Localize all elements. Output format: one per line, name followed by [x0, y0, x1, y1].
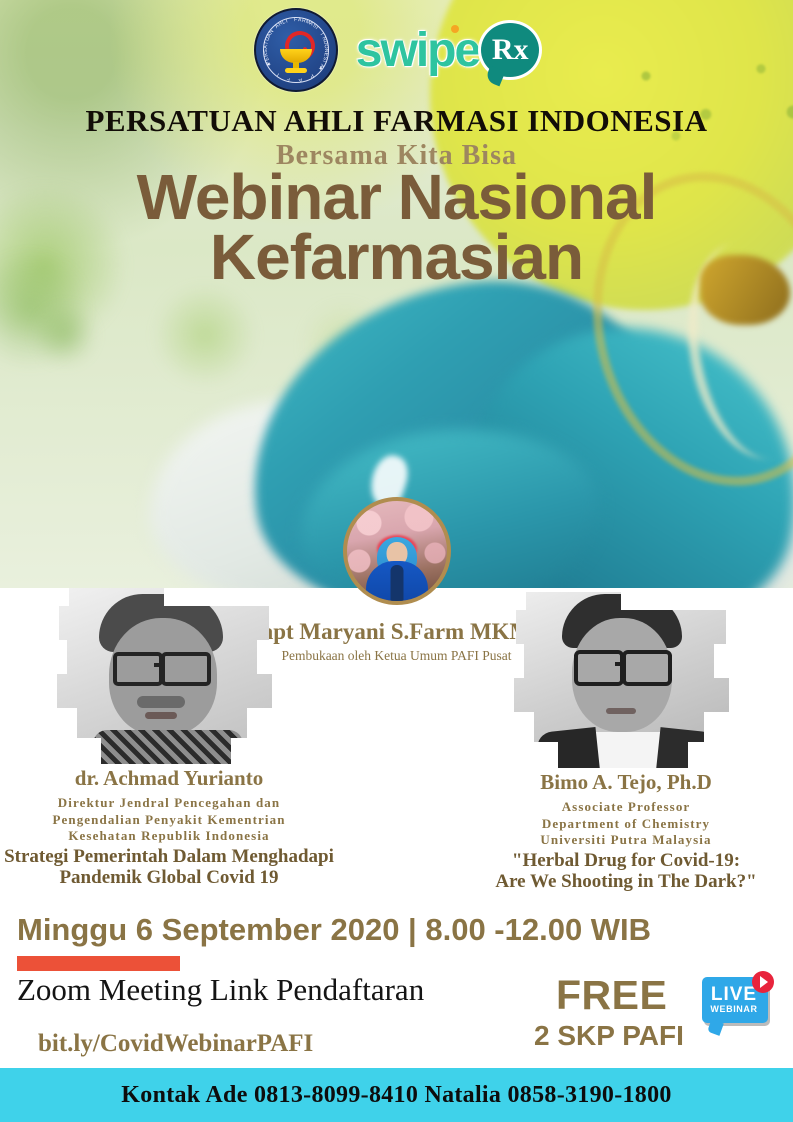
rx-label: Rx — [492, 35, 529, 65]
mouth-shape — [606, 708, 636, 714]
speaker-left-topic: Strategi Pemerintah Dalam Menghadapi Pan… — [4, 846, 334, 889]
event-datetime: Minggu 6 September 2020 | 8.00 -12.00 WI… — [17, 912, 651, 948]
eyeglasses-icon — [161, 652, 211, 686]
eyeglasses-icon — [622, 650, 672, 686]
registration-link[interactable]: bit.ly/CovidWebinarPAFI — [38, 1030, 313, 1058]
eyeglasses-icon — [574, 650, 624, 686]
eyeglasses-icon — [113, 652, 163, 686]
swiperx-logo: swipe Rx — [356, 23, 539, 78]
poster-title-line2: Kefarmasian — [0, 225, 793, 290]
blazer-lapel — [390, 565, 403, 601]
batik-shirt-shape — [93, 730, 243, 764]
pafi-ring-text: ★ P A F I ★ — [256, 10, 336, 90]
eyeglasses-bridge — [615, 662, 624, 666]
swipe-dot-icon — [451, 25, 459, 33]
badge-webinar-label: WEBINAR — [700, 1004, 768, 1014]
pafi-logo-icon: PERSATUAN AHLI FARMASI INDONESIA★ P A F … — [254, 8, 338, 92]
brush-stroke-mask — [510, 588, 742, 768]
eyeglasses-bridge — [154, 663, 163, 667]
contact-text: Kontak Ade 0813-8099-8410 Natalia 0858-3… — [121, 1082, 671, 1109]
logo-row: PERSATUAN AHLI FARMASI INDONESIA★ P A F … — [0, 8, 793, 92]
contact-footer: Kontak Ade 0813-8099-8410 Natalia 0858-3… — [0, 1068, 793, 1122]
mouth-shape — [145, 712, 177, 719]
organization-name: PERSATUAN AHLI FARMASI INDONESIA — [0, 103, 793, 139]
skp-credit-label: 2 SKP PAFI — [534, 1020, 684, 1052]
center-speaker-avatar — [343, 497, 451, 605]
brush-stroke-mask — [53, 584, 285, 764]
speaker-left-affiliation: Direktur Jendral Pencegahan dan Pengenda… — [4, 795, 334, 845]
rx-speech-bubble-icon: Rx — [481, 23, 539, 77]
red-underline-bar — [17, 956, 180, 971]
portrait-achmad-yurianto — [53, 584, 285, 764]
free-label: FREE — [556, 972, 667, 1019]
virus-bokeh-blob — [30, 300, 100, 370]
jacket-shape — [536, 727, 600, 768]
speaker-right-block: Bimo A. Tejo, Ph.D Associate Professor D… — [461, 588, 791, 892]
webinar-poster: PERSATUAN AHLI FARMASI INDONESIA★ P A F … — [0, 0, 793, 1122]
speaker-right-name: Bimo A. Tejo, Ph.D — [461, 770, 791, 795]
jacket-shape — [656, 727, 718, 768]
mustache-shape — [137, 696, 185, 708]
speaker-left-block: dr. Achmad Yurianto Direktur Jendral Pen… — [4, 584, 334, 888]
speaker-right-affiliation: Associate Professor Department of Chemis… — [461, 799, 791, 849]
play-button-icon — [752, 971, 774, 993]
virus-bokeh-blob — [150, 280, 260, 390]
live-webinar-badge: LIVE WEBINAR — [700, 975, 772, 1033]
portrait-bimo-tejo — [510, 588, 742, 768]
speaker-right-topic: "Herbal Drug for Covid-19: Are We Shooti… — [461, 850, 791, 893]
swipe-wordmark: swipe — [356, 23, 479, 78]
speaker-left-photo — [53, 584, 285, 764]
speaker-left-name: dr. Achmad Yurianto — [4, 766, 334, 791]
speaker-right-photo — [510, 588, 742, 768]
zoom-registration-heading: Zoom Meeting Link Pendaftaran — [17, 972, 424, 1008]
